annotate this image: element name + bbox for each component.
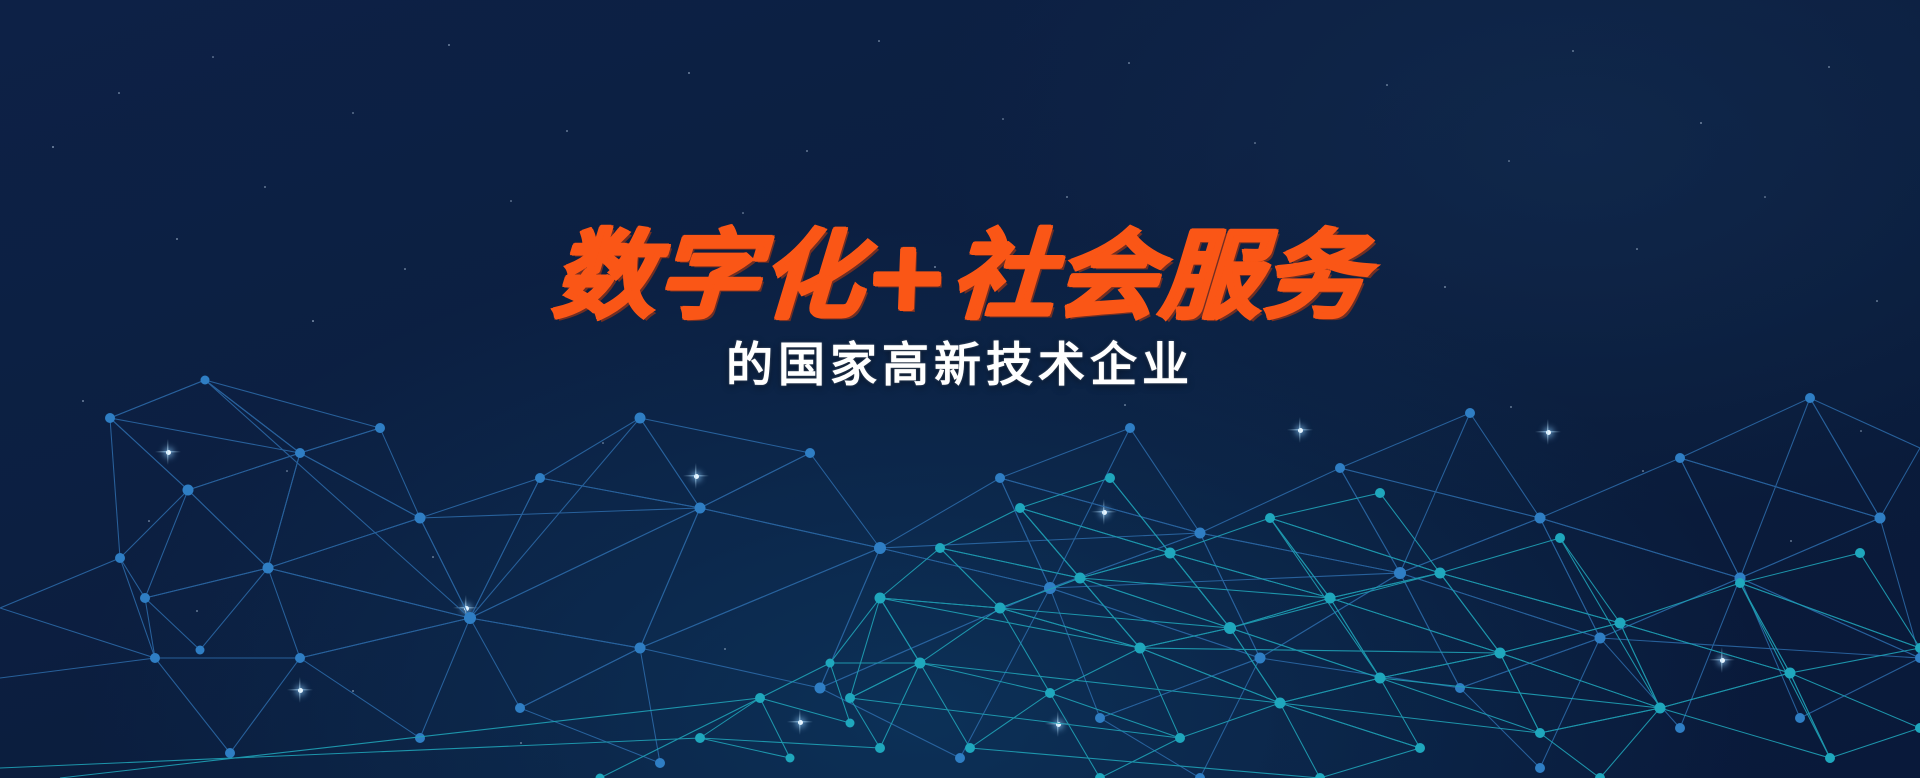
hero-subline: 的国家高新技术企业 — [726, 340, 1194, 392]
hero-headline: 数字化+社会服务 — [551, 228, 1369, 324]
hero-banner: 数字化+社会服务 的国家高新技术企业 — [0, 0, 1920, 778]
hero-text-block: 数字化+社会服务 的国家高新技术企业 — [0, 0, 1920, 778]
